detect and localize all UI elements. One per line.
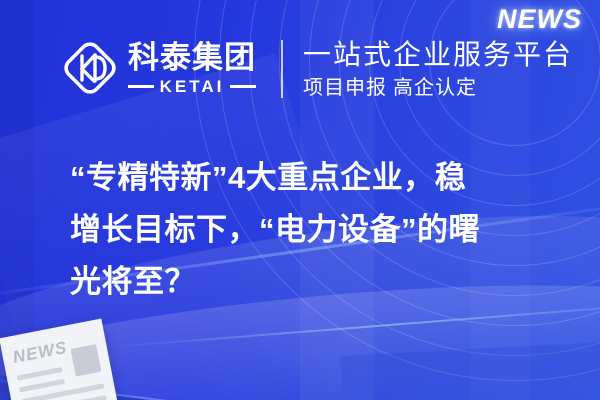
news-banner: 科泰集团 KETAI 一站式企业服务平台 项目申报 高企认定 NEWS “专精特… xyxy=(0,0,600,400)
tagline-secondary: 项目申报 高企认定 xyxy=(303,76,573,100)
headline-line-2: 增长目标下，“电力设备”的曙 xyxy=(70,204,560,256)
page-title: “专精特新”4大重点企业，稳 增长目标下，“电力设备”的曙 光将至？ xyxy=(70,152,560,308)
wordmark-dash-right xyxy=(230,85,256,88)
brand-name-en: KETAI xyxy=(160,78,225,95)
news-badge: NEWS xyxy=(497,4,582,35)
headline-line-3: 光将至？ xyxy=(70,256,560,308)
banner-header: 科泰集团 KETAI 一站式企业服务平台 项目申报 高企认定 NEWS xyxy=(0,0,600,140)
tagline-primary: 一站式企业服务平台 xyxy=(303,38,573,72)
header-divider xyxy=(281,40,283,98)
brand-wordmark: 科泰集团 KETAI xyxy=(128,42,256,95)
brand-logo[interactable]: 科泰集团 KETAI xyxy=(62,40,256,96)
wordmark-dash-left xyxy=(128,85,154,88)
header-taglines: 一站式企业服务平台 项目申报 高企认定 xyxy=(303,38,573,100)
ketai-diamond-kd-logo-icon xyxy=(62,40,118,96)
brand-name-cn: 科泰集团 xyxy=(128,42,256,73)
headline-line-1: “专精特新”4大重点企业，稳 xyxy=(70,152,560,204)
brand-name-en-row: KETAI xyxy=(128,78,256,95)
